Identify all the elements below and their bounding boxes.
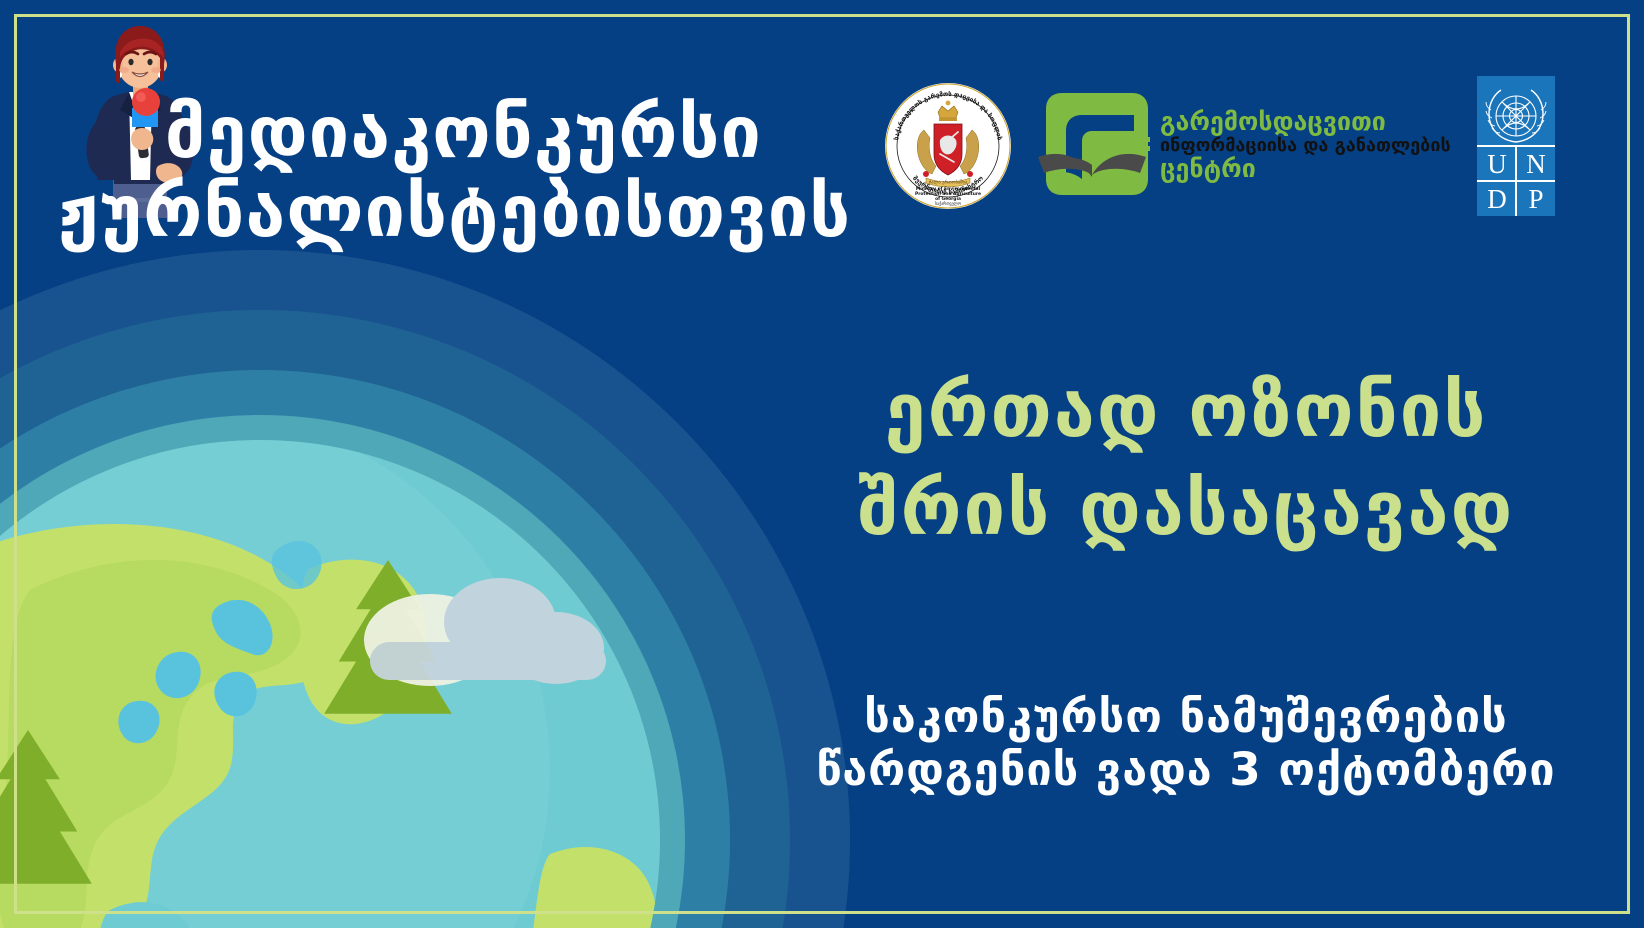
undp-letter-u: U	[1487, 149, 1507, 179]
undp-letter-d: D	[1487, 184, 1507, 214]
slogan-line-1: ერთად ოზონის	[806, 372, 1566, 452]
headline-line-2: ჟურნალისტებისთვის	[58, 175, 798, 248]
eiec-wordmark: გარემოსდაცვითი ინფორმაციისა და განათლები…	[1160, 109, 1451, 182]
globe-illustration	[0, 250, 850, 928]
un-emblem-icon	[1496, 96, 1536, 136]
undp-logo: U N D P	[1477, 76, 1555, 216]
undp-letter-n: N	[1526, 149, 1546, 179]
main-slogan: ერთად ოზონის შრის დასაცავად	[806, 372, 1566, 550]
svg-text:ძალა ერთობაშია: ძალა ერთობაშია	[929, 179, 968, 186]
logo-strip: საქართველოს გარემოს დაცვისა და სოფლის მე…	[884, 66, 1555, 226]
slogan-line-2: შრის დასაცავად	[806, 470, 1566, 550]
eiec-line-3: ცენტრი	[1160, 156, 1451, 182]
deadline-block: საკონკურსო ნამუშევრების წარდგენის ვადა 3…	[806, 690, 1566, 796]
undp-letter-p: P	[1528, 184, 1543, 214]
poster-canvas: მედიაკონკურსი ჟურნალისტებისთვის საქართვე…	[0, 0, 1644, 928]
eiec-logo: გარემოსდაცვითი ინფორმაციისა და განათლები…	[1034, 87, 1451, 205]
eiec-line-2: ინფორმაციისა და განათლების	[1160, 137, 1451, 156]
eiec-line-1: გარემოსდაცვითი	[1160, 109, 1451, 135]
page-title: მედიაკონკურსი ჟურნალისტებისთვის	[58, 96, 798, 249]
ministry-emblem-logo: საქართველოს გარემოს დაცვისა და სოფლის მე…	[884, 82, 1012, 210]
deadline-line-2: წარდგენის ვადა 3 ოქტომბერი	[806, 743, 1566, 796]
svg-text:საქართველო: საქართველო	[935, 201, 961, 206]
deadline-line-1: საკონკურსო ნამუშევრების	[806, 690, 1566, 743]
headline-line-1: მედიაკონკურსი	[58, 96, 798, 169]
eiec-mark-icon	[1034, 87, 1150, 205]
